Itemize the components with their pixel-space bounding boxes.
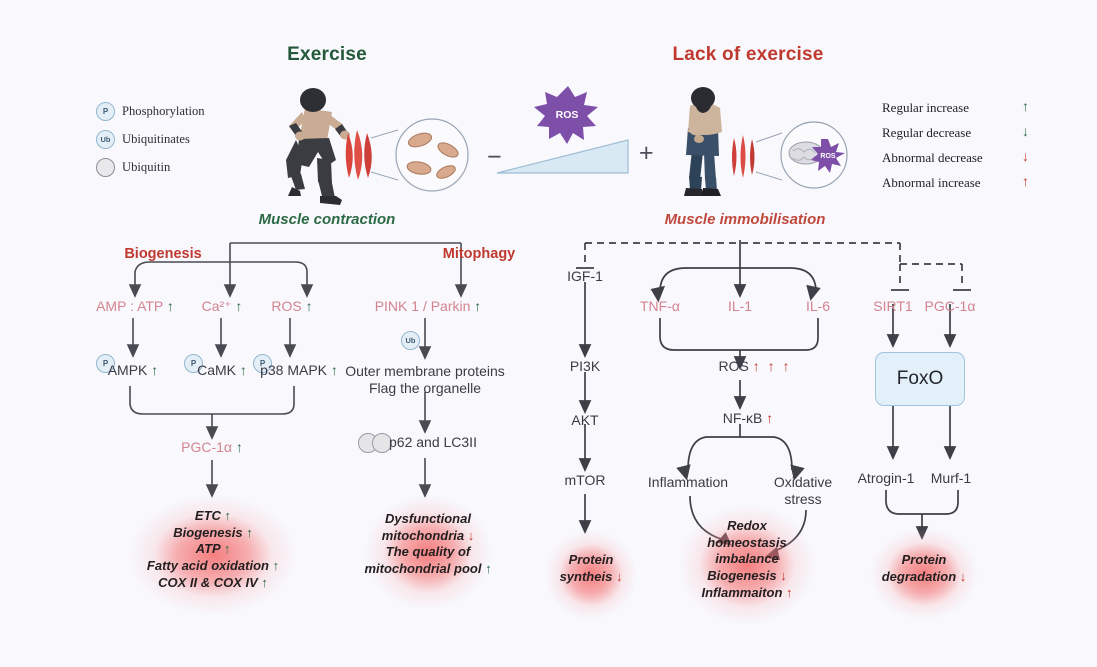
healthy-mitochondria-zoom xyxy=(371,119,468,191)
node-outer-membrane-proteins-line1: Outer membrane proteins xyxy=(345,363,505,379)
node-label: ROS xyxy=(271,298,301,314)
svg-text:ROS: ROS xyxy=(556,109,579,121)
node-label: CaMK xyxy=(197,362,236,378)
arrow-down-red-icon: ↓ xyxy=(780,568,787,583)
node-nfkb: NF-κB ↑ xyxy=(723,410,774,426)
node-pi3k: PI3K xyxy=(570,358,600,374)
outcome-line: mitochondria ↓ xyxy=(364,528,491,545)
node-label: Ca²⁺ xyxy=(202,298,232,314)
node-label: PGC-1α xyxy=(181,439,232,455)
outcome-protein-synthesis: Protein syntheis ↓ xyxy=(560,552,623,585)
foxo-label: FoxO xyxy=(897,368,943,390)
node-p62-lc3ii: p62 and LC3II xyxy=(389,434,477,450)
node-mtor: mTOR xyxy=(565,472,606,488)
outcome-line: The quality of xyxy=(364,544,491,561)
node-il6: IL-6 xyxy=(806,298,830,314)
outcome-line: mitochondrial pool ↑ xyxy=(364,561,491,578)
branch-label-mitophagy: Mitophagy xyxy=(443,246,516,262)
outcome-protein-degradation: Protein degradation ↓ xyxy=(882,552,967,585)
outcome-biogenesis: ETC ↑ Biogenesis ↑ ATP ↑ Fatty acid oxid… xyxy=(147,508,279,591)
arrow-down-red-icon: ↓ xyxy=(616,569,623,584)
running-person-illustration xyxy=(286,88,350,205)
arrow-up-green-icon: ↑ xyxy=(167,298,174,314)
node-akt: AKT xyxy=(571,412,598,428)
outcome-line: Biogenesis ↑ xyxy=(147,525,279,542)
diagram-canvas: Exercise Lack of exercise Muscle contrac… xyxy=(0,0,1097,667)
plus-sign: + xyxy=(639,139,654,168)
node-oxidative-stress-line1: Oxidative xyxy=(774,474,832,490)
node-sirt1: SIRT1 xyxy=(873,298,912,314)
atrophied-muscle-illustration xyxy=(732,135,755,178)
node-ros-right: ROS ↑ ↑ ↑ xyxy=(718,358,791,374)
ubiquitin-pair-icon xyxy=(358,433,392,453)
arrow-up-green-icon: ↑ xyxy=(273,558,280,573)
outcome-line: Dysfunctional xyxy=(364,511,491,528)
arrow-up-red-icon: ↑ xyxy=(786,585,793,600)
outcome-line: Redox xyxy=(701,518,792,535)
node-murf1: Murf-1 xyxy=(931,470,971,486)
node-label: AMPK xyxy=(108,362,148,378)
node-oxidative-stress-line2: stress xyxy=(784,491,821,507)
node-igf1: IGF-1 xyxy=(567,268,603,284)
arrow-up-green-icon: ↑ xyxy=(485,561,492,576)
outcome-line: COX II & COX IV ↑ xyxy=(147,575,279,592)
node-inflammation: Inflammation xyxy=(648,474,728,490)
outcome-mitophagy: Dysfunctional mitochondria ↓ The quality… xyxy=(364,511,491,578)
outcome-redox: Redox homeostasis imbalance Biogenesis ↓… xyxy=(701,518,792,601)
arrow-up-green-icon: ↑ xyxy=(240,362,247,378)
center-ros-burst-icon: ROS xyxy=(534,86,598,144)
node-label: PINK 1 / Parkin xyxy=(375,298,471,314)
outcome-line: Inflammaiton ↑ xyxy=(701,585,792,602)
outcome-line: syntheis ↓ xyxy=(560,569,623,586)
stooped-person-illustration xyxy=(684,87,722,196)
outcome-line: Protein xyxy=(560,552,623,569)
node-label: NF-κB xyxy=(723,410,763,426)
arrow-up-green-icon: ↑ xyxy=(331,362,338,378)
node-outer-membrane-proteins-line2: Flag the organelle xyxy=(369,380,481,396)
arrow-up-green-icon: ↑ xyxy=(151,362,158,378)
arrow-up-green-icon: ↑ xyxy=(224,541,231,556)
arrow-down-red-icon: ↓ xyxy=(960,569,967,584)
node-camk: CaMK ↑ xyxy=(197,362,247,378)
arrow-up-green-icon: ↑ xyxy=(225,508,232,523)
outcome-line: Biogenesis ↓ xyxy=(701,568,792,585)
node-pgc1a-right: PGC-1α xyxy=(925,298,976,314)
outcome-line: homeostasis xyxy=(701,535,792,552)
node-ampk: AMPK ↑ xyxy=(108,362,159,378)
arrow-up-green-icon: ↑ xyxy=(261,575,268,590)
arrow-up-green-icon: ↑ xyxy=(306,298,313,314)
arrow-up-red-icon: ↑ ↑ ↑ xyxy=(753,358,792,374)
branch-label-biogenesis: Biogenesis xyxy=(124,246,201,262)
outcome-line: Fatty acid oxidation ↑ xyxy=(147,558,279,575)
node-pink1-parkin: PINK 1 / Parkin ↑ xyxy=(375,298,482,314)
node-ros-left: ROS ↑ xyxy=(271,298,312,314)
node-calcium: Ca²⁺ ↑ xyxy=(202,298,243,315)
damaged-mitochondria-ros-zoom: ROS xyxy=(756,122,847,188)
outcome-line: imbalance xyxy=(701,551,792,568)
node-amp-atp: AMP : ATP ↑ xyxy=(96,298,174,314)
arrow-up-green-icon: ↑ xyxy=(474,298,481,314)
node-label: ROS xyxy=(718,358,748,374)
outcome-line: ATP ↑ xyxy=(147,541,279,558)
healthy-muscle-illustration xyxy=(346,130,372,180)
outcome-line: ETC ↑ xyxy=(147,508,279,525)
arrow-down-red-icon: ↓ xyxy=(468,528,475,543)
arrow-up-green-icon: ↑ xyxy=(246,525,253,540)
outcome-line: degradation ↓ xyxy=(882,569,967,586)
node-label: p38 MAPK xyxy=(260,362,327,378)
arrow-up-red-icon: ↑ xyxy=(766,410,773,426)
node-p38-mapk: p38 MAPK ↑ xyxy=(260,362,338,378)
svg-text:ROS: ROS xyxy=(820,153,836,160)
node-tnf-alpha: TNF-α xyxy=(640,298,680,314)
ubiquitinates-badge-icon: Ub xyxy=(401,331,420,350)
node-pgc1a-left: PGC-1α ↑ xyxy=(181,439,243,455)
minus-sign: − xyxy=(487,143,502,172)
outcome-line: Protein xyxy=(882,552,967,569)
node-il1: IL-1 xyxy=(728,298,752,314)
ros-gradient-triangle xyxy=(497,140,628,173)
node-atrogin1: Atrogin-1 xyxy=(858,470,915,486)
arrow-up-green-icon: ↑ xyxy=(235,298,242,314)
node-label: AMP : ATP xyxy=(96,298,163,314)
arrow-up-green-icon: ↑ xyxy=(236,439,243,455)
node-foxo: FoxO xyxy=(875,352,965,406)
